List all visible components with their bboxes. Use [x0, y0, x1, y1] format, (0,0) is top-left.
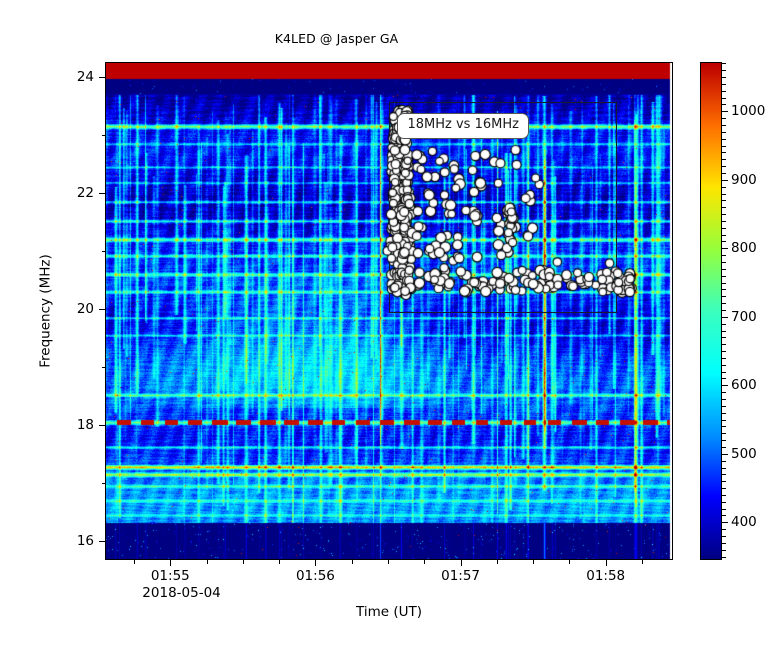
colorbar-tick-minor	[722, 289, 726, 290]
colorbar-tick-minor	[722, 63, 726, 64]
colorbar-tick-minor	[722, 235, 726, 236]
colorbar-tick-minor	[722, 324, 726, 325]
colorbar-tick-minor	[722, 406, 726, 407]
colorbar-tick-minor	[722, 372, 726, 373]
colorbar-tick-minor	[722, 378, 726, 379]
colorbar-tick-label: 800	[731, 240, 757, 256]
colorbar-tick-minor	[722, 461, 726, 462]
x-tick-label: 01:57	[441, 568, 480, 584]
colorbar-tick-major	[722, 522, 728, 523]
x-tick-minor	[207, 560, 208, 564]
colorbar-tick-minor	[722, 118, 726, 119]
colorbar-tick-minor	[722, 529, 726, 530]
x-tick-minor	[352, 560, 353, 564]
colorbar-tick-minor	[722, 146, 726, 147]
colorbar-tick-minor	[722, 241, 726, 242]
x-tick-minor	[424, 560, 425, 564]
y-tick-label: 18	[0, 417, 94, 433]
colorbar-tick-minor	[722, 413, 726, 414]
colorbar-tick-major	[722, 248, 728, 249]
colorbar-tick-minor	[722, 392, 726, 393]
colorbar-tick-minor	[722, 91, 726, 92]
y-tick-minor	[102, 483, 106, 484]
colorbar-tick-minor	[722, 331, 726, 332]
colorbar-tick-minor	[722, 399, 726, 400]
date-label: 2018-05-04	[142, 585, 220, 601]
colorbar-tick-minor	[722, 283, 726, 284]
annotation-label: 18MHz vs 16MHz	[397, 113, 528, 139]
page-title: K4LED @ Jasper GA	[0, 31, 673, 46]
colorbar-tick-minor	[722, 515, 726, 516]
colorbar-tick-minor	[722, 255, 726, 256]
colorbar-tick-minor	[722, 440, 726, 441]
colorbar-tick-minor	[722, 447, 726, 448]
colorbar-tick-minor	[722, 543, 726, 544]
colorbar-tick-minor	[722, 351, 726, 352]
colorbar-tick-minor	[722, 365, 726, 366]
colorbar-tick-minor	[722, 104, 726, 105]
x-tick-label: 01:56	[296, 568, 335, 584]
x-tick-minor	[388, 560, 389, 564]
colorbar-tick-minor	[722, 228, 726, 229]
x-tick-minor	[279, 560, 280, 564]
colorbar-tick-minor	[722, 139, 726, 140]
y-tick-major	[99, 193, 105, 194]
colorbar-tick-minor	[722, 200, 726, 201]
y-tick-minor	[102, 135, 106, 136]
colorbar-tick-minor	[722, 550, 726, 551]
colorbar-tick-major	[722, 111, 728, 112]
colorbar-tick-minor	[722, 536, 726, 537]
x-tick-major	[315, 560, 316, 566]
colorbar-tick-label: 500	[731, 446, 757, 462]
colorbar-tick-minor	[722, 344, 726, 345]
echo-scatter-overlay	[106, 63, 672, 559]
colorbar-tick-label: 700	[731, 309, 757, 325]
x-tick-minor	[642, 560, 643, 564]
colorbar-tick-minor	[722, 488, 726, 489]
colorbar-tick-minor	[722, 214, 726, 215]
y-tick-major	[99, 541, 105, 542]
colorbar-tick-minor	[722, 296, 726, 297]
colorbar-tick-minor	[722, 221, 726, 222]
colorbar-tick-minor	[722, 84, 726, 85]
colorbar-tick-minor	[722, 337, 726, 338]
y-tick-label: 22	[0, 185, 94, 201]
colorbar-tick-label: 900	[731, 172, 757, 188]
colorbar-tick-minor	[722, 166, 726, 167]
colorbar-tick-minor	[722, 125, 726, 126]
colorbar-tick-major	[722, 454, 728, 455]
colorbar-tick-minor	[722, 207, 726, 208]
colorbar-tick-minor	[722, 310, 726, 311]
colorbar-tick-minor	[722, 98, 726, 99]
colorbar-tick-minor	[722, 173, 726, 174]
y-tick-major	[99, 309, 105, 310]
colorbar-tick-minor	[722, 468, 726, 469]
x-tick-minor	[497, 560, 498, 564]
y-tick-major	[99, 77, 105, 78]
x-tick-label: 01:55	[151, 568, 190, 584]
colorbar-tick-minor	[722, 77, 726, 78]
colorbar-tick-label: 600	[731, 377, 757, 393]
x-tick-major	[170, 560, 171, 566]
x-tick-minor	[134, 560, 135, 564]
y-tick-label: 24	[0, 69, 94, 85]
colorbar-tick-minor	[722, 509, 726, 510]
x-tick-label: 01:58	[586, 568, 625, 584]
x-tick-minor	[569, 560, 570, 564]
colorbar-tick-major	[722, 180, 728, 181]
colorbar-tick-minor	[722, 152, 726, 153]
colorbar-tick-minor	[722, 269, 726, 270]
colorbar-tick-minor	[722, 132, 726, 133]
colorbar-tick-minor	[722, 358, 726, 359]
spectrogram-figure: K4LED @ Jasper GA Frequency (MHz) 18MHz …	[0, 0, 783, 656]
colorbar-tick-minor	[722, 187, 726, 188]
plot-axes: 18MHz vs 16MHz	[105, 62, 673, 560]
colorbar-tick-minor	[722, 495, 726, 496]
colorbar: 4005006007008009001000	[700, 62, 722, 560]
colorbar-tick-major	[722, 317, 728, 318]
colorbar-tick-minor	[722, 426, 726, 427]
colorbar-tick-minor	[722, 276, 726, 277]
colorbar-tick-minor	[722, 502, 726, 503]
colorbar-tick-minor	[722, 433, 726, 434]
colorbar-tick-minor	[722, 481, 726, 482]
colorbar-tick-minor	[722, 420, 726, 421]
x-tick-minor	[243, 560, 244, 564]
colorbar-tick-label: 1000	[731, 103, 765, 119]
colorbar-tick-minor	[722, 262, 726, 263]
colorbar-tick-label: 400	[731, 514, 757, 530]
colorbar-tick-minor	[722, 474, 726, 475]
y-tick-major	[99, 425, 105, 426]
x-tick-major	[606, 560, 607, 566]
y-tick-minor	[102, 367, 106, 368]
x-tick-major	[461, 560, 462, 566]
y-tick-label: 20	[0, 301, 94, 317]
colorbar-gradient	[700, 62, 722, 560]
colorbar-tick-minor	[722, 70, 726, 71]
y-tick-minor	[102, 251, 106, 252]
x-tick-minor	[533, 560, 534, 564]
colorbar-tick-minor	[722, 194, 726, 195]
y-tick-label: 16	[0, 533, 94, 549]
x-axis-label: Time (UT)	[105, 604, 673, 620]
colorbar-tick-minor	[722, 557, 726, 558]
colorbar-tick-major	[722, 385, 728, 386]
colorbar-tick-minor	[722, 303, 726, 304]
colorbar-tick-minor	[722, 159, 726, 160]
